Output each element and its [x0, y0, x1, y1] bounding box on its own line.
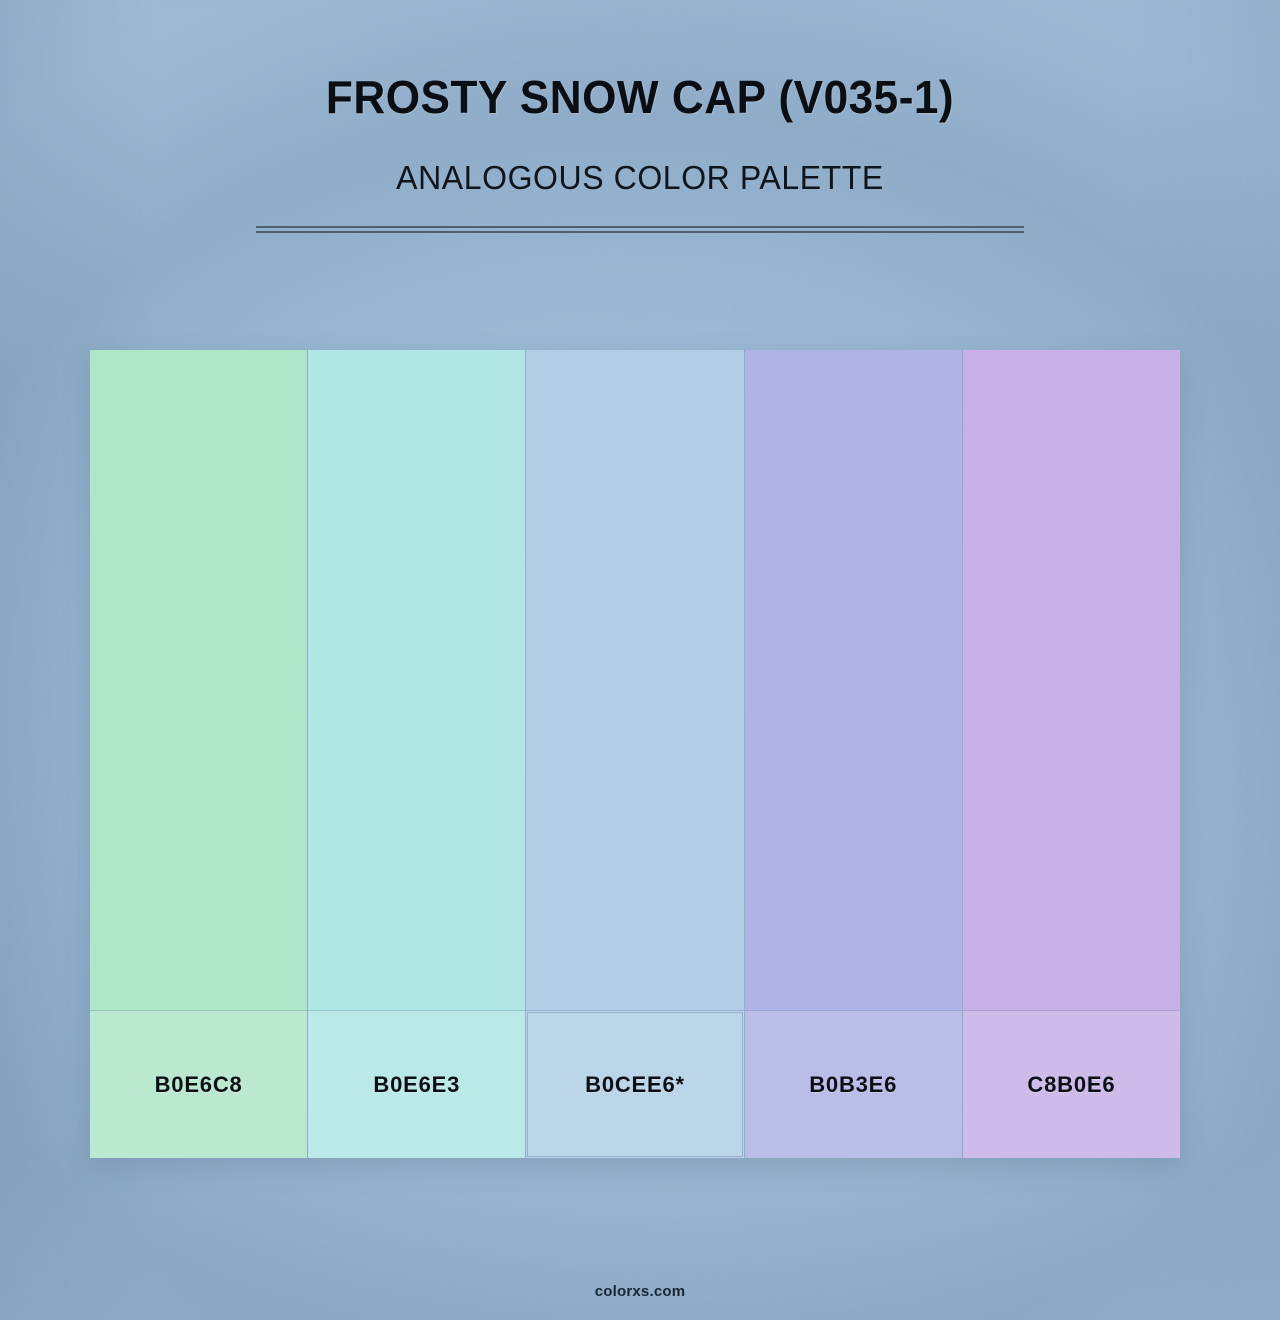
swatch-color-5[interactable]: [963, 350, 1180, 1010]
swatch-2[interactable]: B0E6E3: [307, 350, 525, 1158]
swatch-label-5[interactable]: C8B0E6: [963, 1010, 1180, 1158]
swatch-hex-1: B0E6C8: [155, 1072, 243, 1098]
swatch-5[interactable]: C8B0E6: [962, 350, 1180, 1158]
swatch-hex-4: B0B3E6: [809, 1072, 897, 1098]
palette-page: FROSTY SNOW CAP (V035-1) ANALOGOUS COLOR…: [0, 0, 1280, 1320]
swatch-color-3[interactable]: [526, 350, 743, 1010]
page-subtitle: ANALOGOUS COLOR PALETTE: [19, 160, 1261, 197]
swatch-hex-2: B0E6E3: [373, 1072, 460, 1098]
swatch-hex-5: C8B0E6: [1027, 1072, 1115, 1098]
page-title: FROSTY SNOW CAP (V035-1): [26, 72, 1255, 124]
swatch-label-2[interactable]: B0E6E3: [308, 1010, 525, 1158]
swatch-label-1[interactable]: B0E6C8: [90, 1010, 307, 1158]
swatch-hex-3: B0CEE6*: [585, 1072, 685, 1098]
footer: colorxs.com: [0, 1283, 1280, 1300]
site-credit: colorxs.com: [595, 1283, 686, 1300]
swatch-color-2[interactable]: [308, 350, 525, 1010]
header-divider: [256, 226, 1024, 233]
color-palette: B0E6C8 B0E6E3 B0CEE6* B0B3E6 C8B0E6: [90, 350, 1180, 1158]
swatch-color-4[interactable]: [745, 350, 962, 1010]
swatch-label-4[interactable]: B0B3E6: [745, 1010, 962, 1158]
header: FROSTY SNOW CAP (V035-1) ANALOGOUS COLOR…: [0, 72, 1280, 233]
swatch-3[interactable]: B0CEE6*: [525, 350, 743, 1158]
swatch-color-1[interactable]: [90, 350, 307, 1010]
swatch-1[interactable]: B0E6C8: [90, 350, 307, 1158]
swatch-4[interactable]: B0B3E6: [744, 350, 962, 1158]
swatch-label-3[interactable]: B0CEE6*: [526, 1010, 743, 1158]
